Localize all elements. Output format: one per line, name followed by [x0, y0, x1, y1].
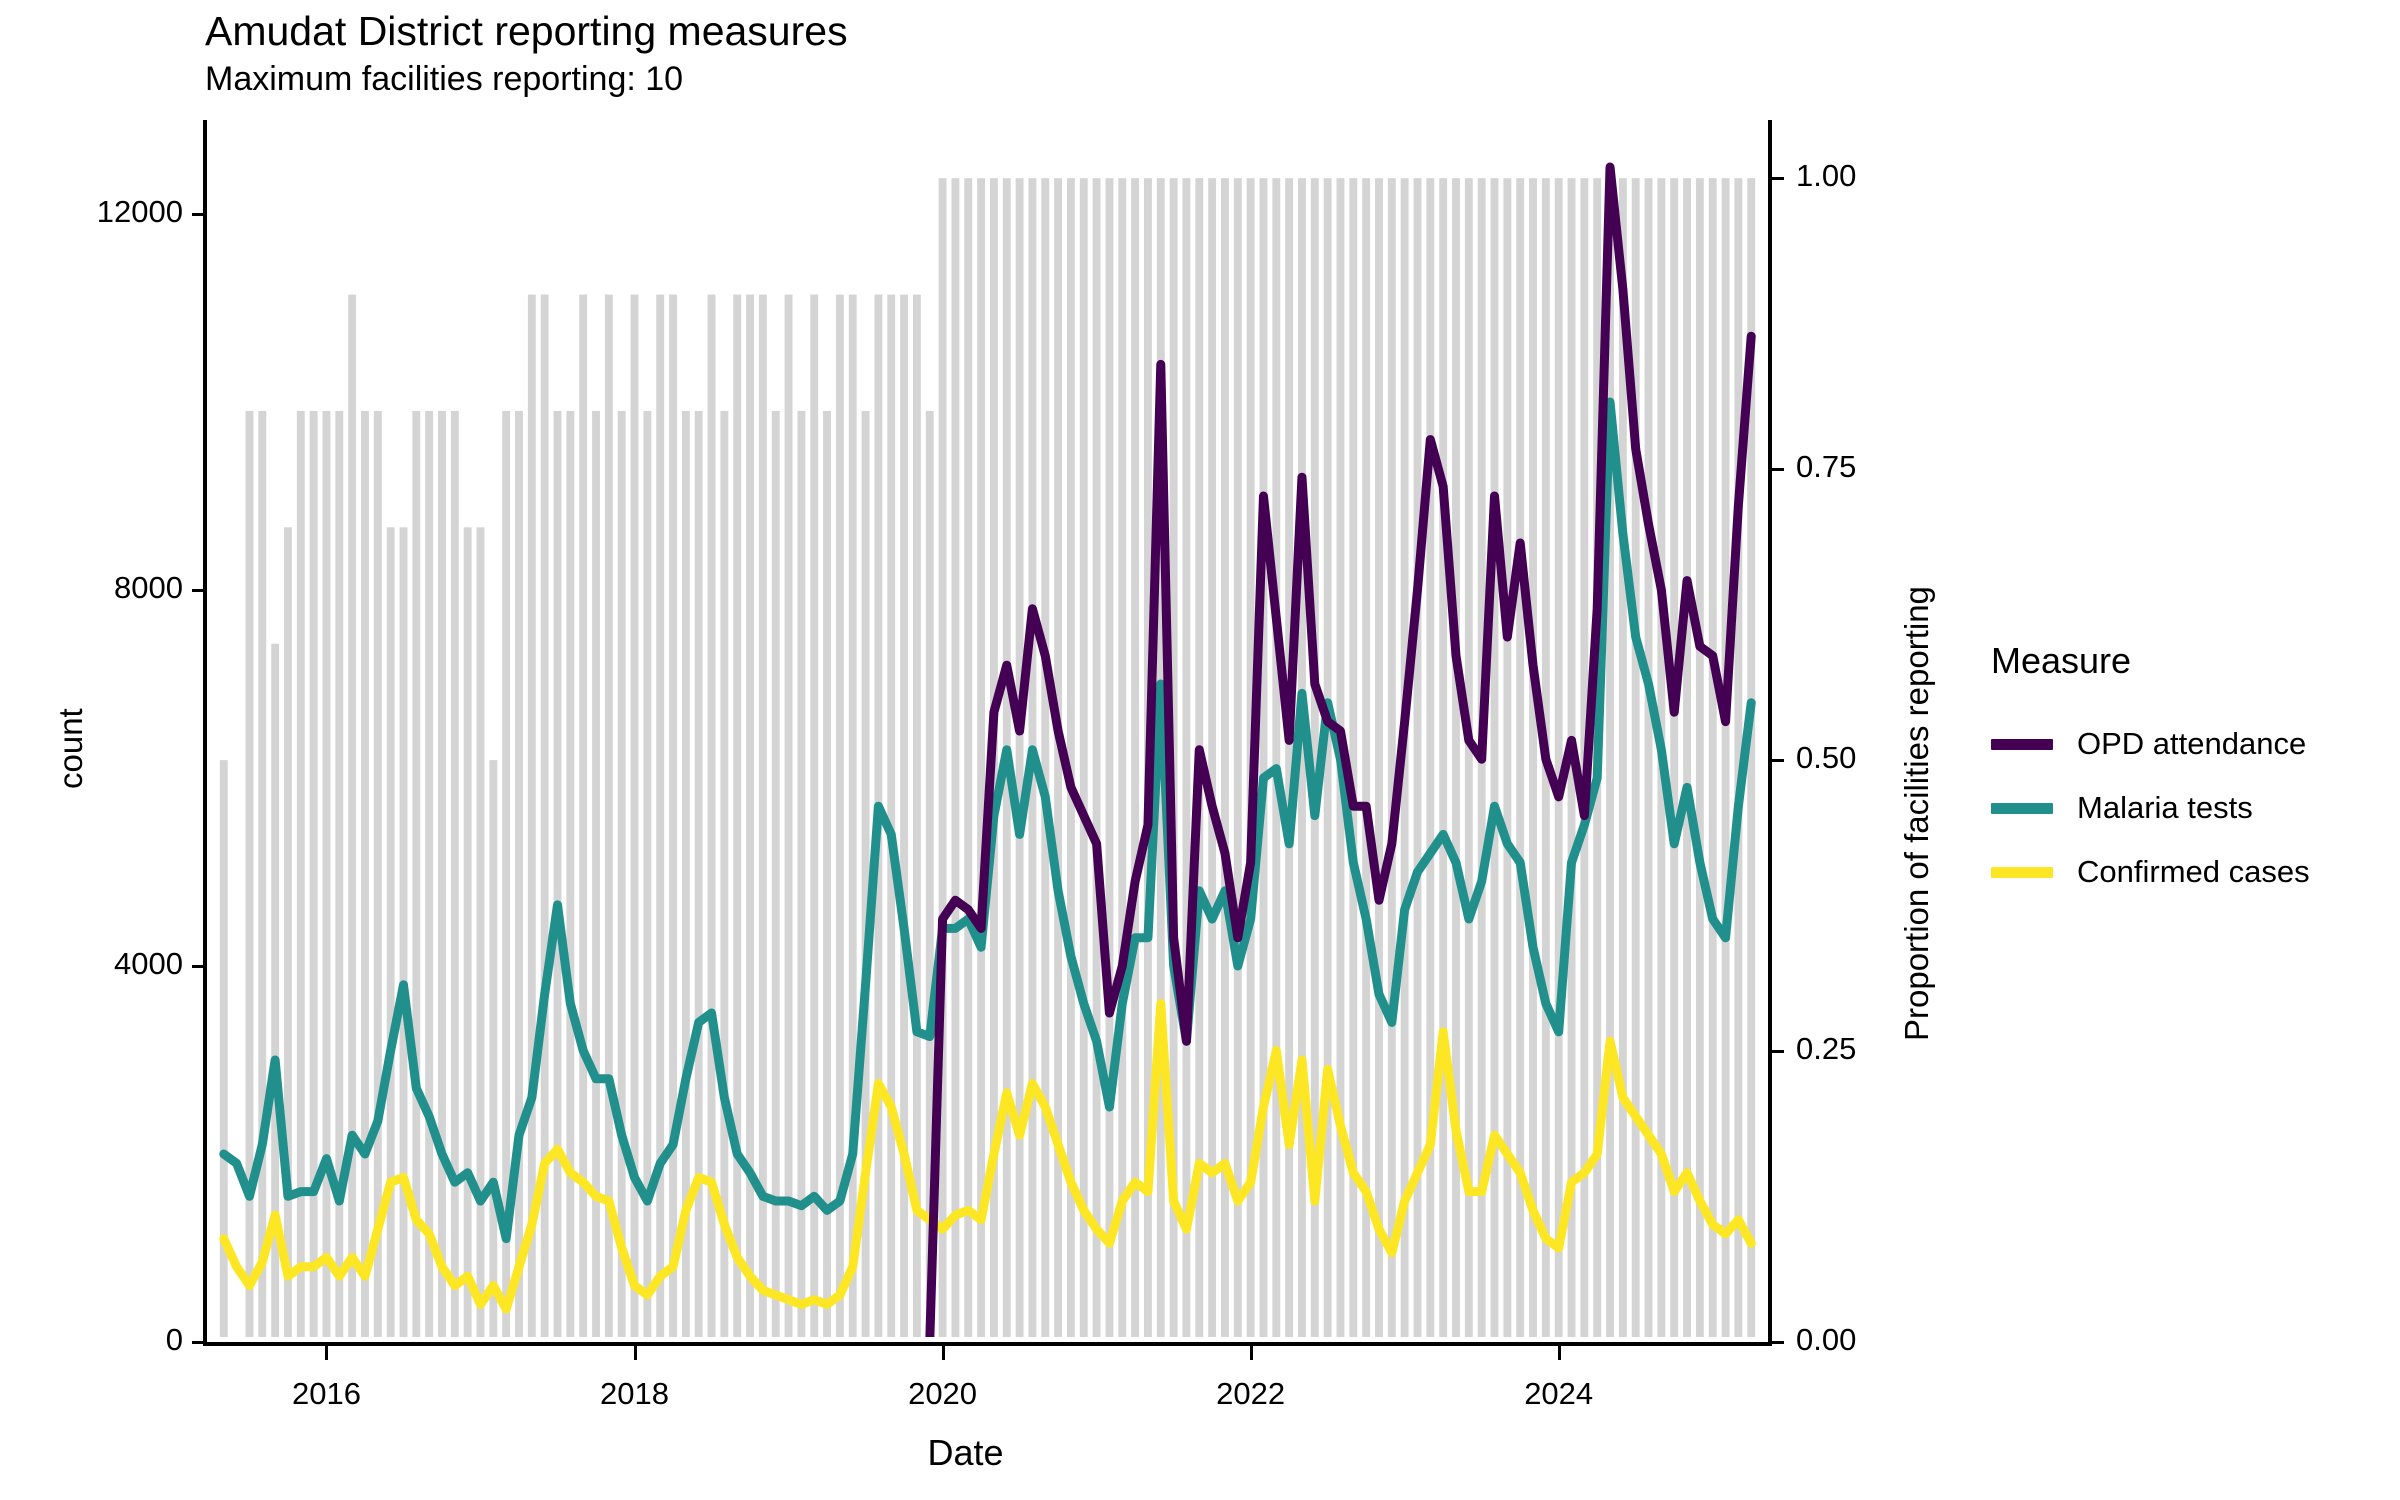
facility-bar — [1362, 178, 1370, 1337]
facility-bar — [1093, 178, 1101, 1337]
legend-color-swatch-icon — [1991, 803, 2053, 814]
y-axis-right-tick-mark — [1772, 759, 1784, 762]
x-axis-tick-label: 2016 — [256, 1376, 396, 1412]
legend-item-label: Malaria tests — [2077, 790, 2253, 826]
y-axis-right-tick-label: 0.50 — [1796, 740, 1856, 776]
y-axis-right-label: Proportion of facilities reporting — [1898, 586, 1936, 1041]
facility-bar — [733, 295, 741, 1337]
facility-bar — [1388, 178, 1396, 1337]
facility-bar — [1722, 178, 1730, 1337]
facility-bar — [605, 295, 613, 1337]
facility-bar — [1375, 178, 1383, 1337]
y-axis-right-tick-label: 0.25 — [1796, 1031, 1856, 1067]
facility-bar — [1632, 178, 1640, 1337]
chart-title: Amudat District reporting measures — [205, 8, 848, 55]
facility-bar — [1645, 178, 1653, 1337]
facility-bar — [823, 411, 831, 1337]
legend-color-swatch-icon — [1991, 867, 2053, 878]
facility-bar — [1080, 178, 1088, 1337]
facility-bar — [361, 411, 369, 1337]
y-axis-left-tick-mark — [192, 965, 204, 968]
facility-bar — [1041, 178, 1049, 1337]
facility-bar — [1670, 178, 1678, 1337]
facility-bar — [438, 411, 446, 1337]
facility-bar — [977, 178, 985, 1337]
facility-bar — [528, 295, 536, 1337]
facility-bar — [1696, 178, 1704, 1337]
facility-bar — [477, 527, 485, 1337]
y-axis-left-tick-mark — [192, 213, 204, 216]
chart-subtitle: Maximum facilities reporting: 10 — [205, 60, 683, 99]
x-axis-label: Date — [928, 1432, 1004, 1474]
y-axis-left-tick-mark — [192, 589, 204, 592]
x-axis-tick-mark — [325, 1346, 328, 1360]
legend-item-label: OPD attendance — [2077, 726, 2306, 762]
x-axis-tick-mark — [1250, 1346, 1253, 1360]
x-axis-tick-mark — [942, 1346, 945, 1360]
x-axis-tick-label: 2018 — [565, 1376, 705, 1412]
facility-bar — [425, 411, 433, 1337]
legend-item-malaria-tests[interactable]: Malaria tests — [1985, 776, 2385, 840]
y-axis-right-tick-mark — [1772, 1341, 1784, 1344]
facility-bar — [1234, 178, 1242, 1337]
facility-bar — [1105, 178, 1113, 1337]
facility-bar — [348, 295, 356, 1337]
plot-canvas — [205, 120, 1765, 1337]
facility-bar — [1272, 178, 1280, 1337]
facility-bar — [759, 295, 767, 1337]
facility-bar — [951, 178, 959, 1337]
chart-root: Amudat District reporting measures Maxim… — [0, 0, 2400, 1500]
x-axis-line — [203, 1342, 1772, 1346]
y-axis-left-line — [203, 120, 207, 1346]
facility-bar — [284, 527, 292, 1337]
y-axis-right-tick-label: 1.00 — [1796, 158, 1856, 194]
y-axis-right-tick-mark — [1772, 177, 1784, 180]
facility-bar — [1118, 178, 1126, 1337]
plot-panel — [205, 120, 1765, 1337]
y-axis-right-tick-mark — [1772, 468, 1784, 471]
facility-bar — [887, 295, 895, 1337]
y-axis-right-line — [1768, 120, 1772, 1346]
facility-bar — [1260, 178, 1268, 1337]
facility-bar — [464, 527, 472, 1337]
y-axis-right-tick-label: 0.00 — [1796, 1322, 1856, 1358]
facility-bar — [489, 760, 497, 1337]
facility-bar — [566, 411, 574, 1337]
facility-bar — [964, 178, 972, 1337]
x-axis-tick-label: 2024 — [1489, 1376, 1629, 1412]
facility-bar — [1208, 178, 1216, 1337]
facility-bar — [1683, 178, 1691, 1337]
facility-bar — [310, 411, 318, 1337]
x-axis-tick-label: 2022 — [1181, 1376, 1321, 1412]
y-axis-right-tick-label: 0.75 — [1796, 449, 1856, 485]
facility-bar — [1555, 178, 1563, 1337]
facility-bar — [785, 295, 793, 1337]
facility-bar — [1183, 178, 1191, 1337]
facility-bar — [297, 411, 305, 1337]
facility-bar — [323, 411, 331, 1337]
legend-item-label: Confirmed cases — [2077, 854, 2310, 890]
facility-bar — [1285, 178, 1293, 1337]
facility-bar — [387, 527, 395, 1337]
facility-bar — [451, 411, 459, 1337]
facility-bar — [515, 411, 523, 1337]
facility-bar — [810, 295, 818, 1337]
facility-bar — [1529, 178, 1537, 1337]
y-axis-right-tick-mark — [1772, 1050, 1784, 1053]
facility-bar — [1016, 178, 1024, 1337]
facility-bar — [1426, 178, 1434, 1337]
legend-title: Measure — [1991, 640, 2385, 682]
facility-bar — [720, 411, 728, 1337]
facility-bar — [669, 295, 677, 1337]
facility-bar — [1131, 178, 1139, 1337]
facility-bar — [695, 411, 703, 1337]
y-axis-left-tick-label: 4000 — [114, 946, 183, 982]
x-axis-tick-label: 2020 — [873, 1376, 1013, 1412]
legend-item-opd-attendance[interactable]: OPD attendance — [1985, 712, 2385, 776]
facility-bar — [400, 527, 408, 1337]
facility-bar — [1709, 178, 1717, 1337]
y-axis-left-tick-label: 8000 — [114, 570, 183, 606]
facility-bar — [1439, 178, 1447, 1337]
facility-bar — [554, 411, 562, 1337]
legend-color-swatch-icon — [1991, 739, 2053, 750]
facility-bar — [618, 411, 626, 1337]
x-axis-tick-mark — [1558, 1346, 1561, 1360]
facility-bar — [258, 411, 266, 1337]
facility-bar — [797, 411, 805, 1337]
plot-area — [205, 120, 1765, 1337]
facility-bar — [939, 178, 947, 1337]
y-axis-left-tick-label: 12000 — [97, 194, 183, 230]
facility-bar — [374, 411, 382, 1337]
y-axis-left-tick-label: 0 — [166, 1322, 183, 1358]
y-axis-left-label: count — [52, 708, 90, 789]
y-axis-left-tick-mark — [192, 1341, 204, 1344]
legend-item-confirmed-cases[interactable]: Confirmed cases — [1985, 840, 2385, 904]
legend: Measure OPD attendanceMalaria testsConfi… — [1985, 640, 2385, 904]
x-axis-tick-mark — [634, 1346, 637, 1360]
